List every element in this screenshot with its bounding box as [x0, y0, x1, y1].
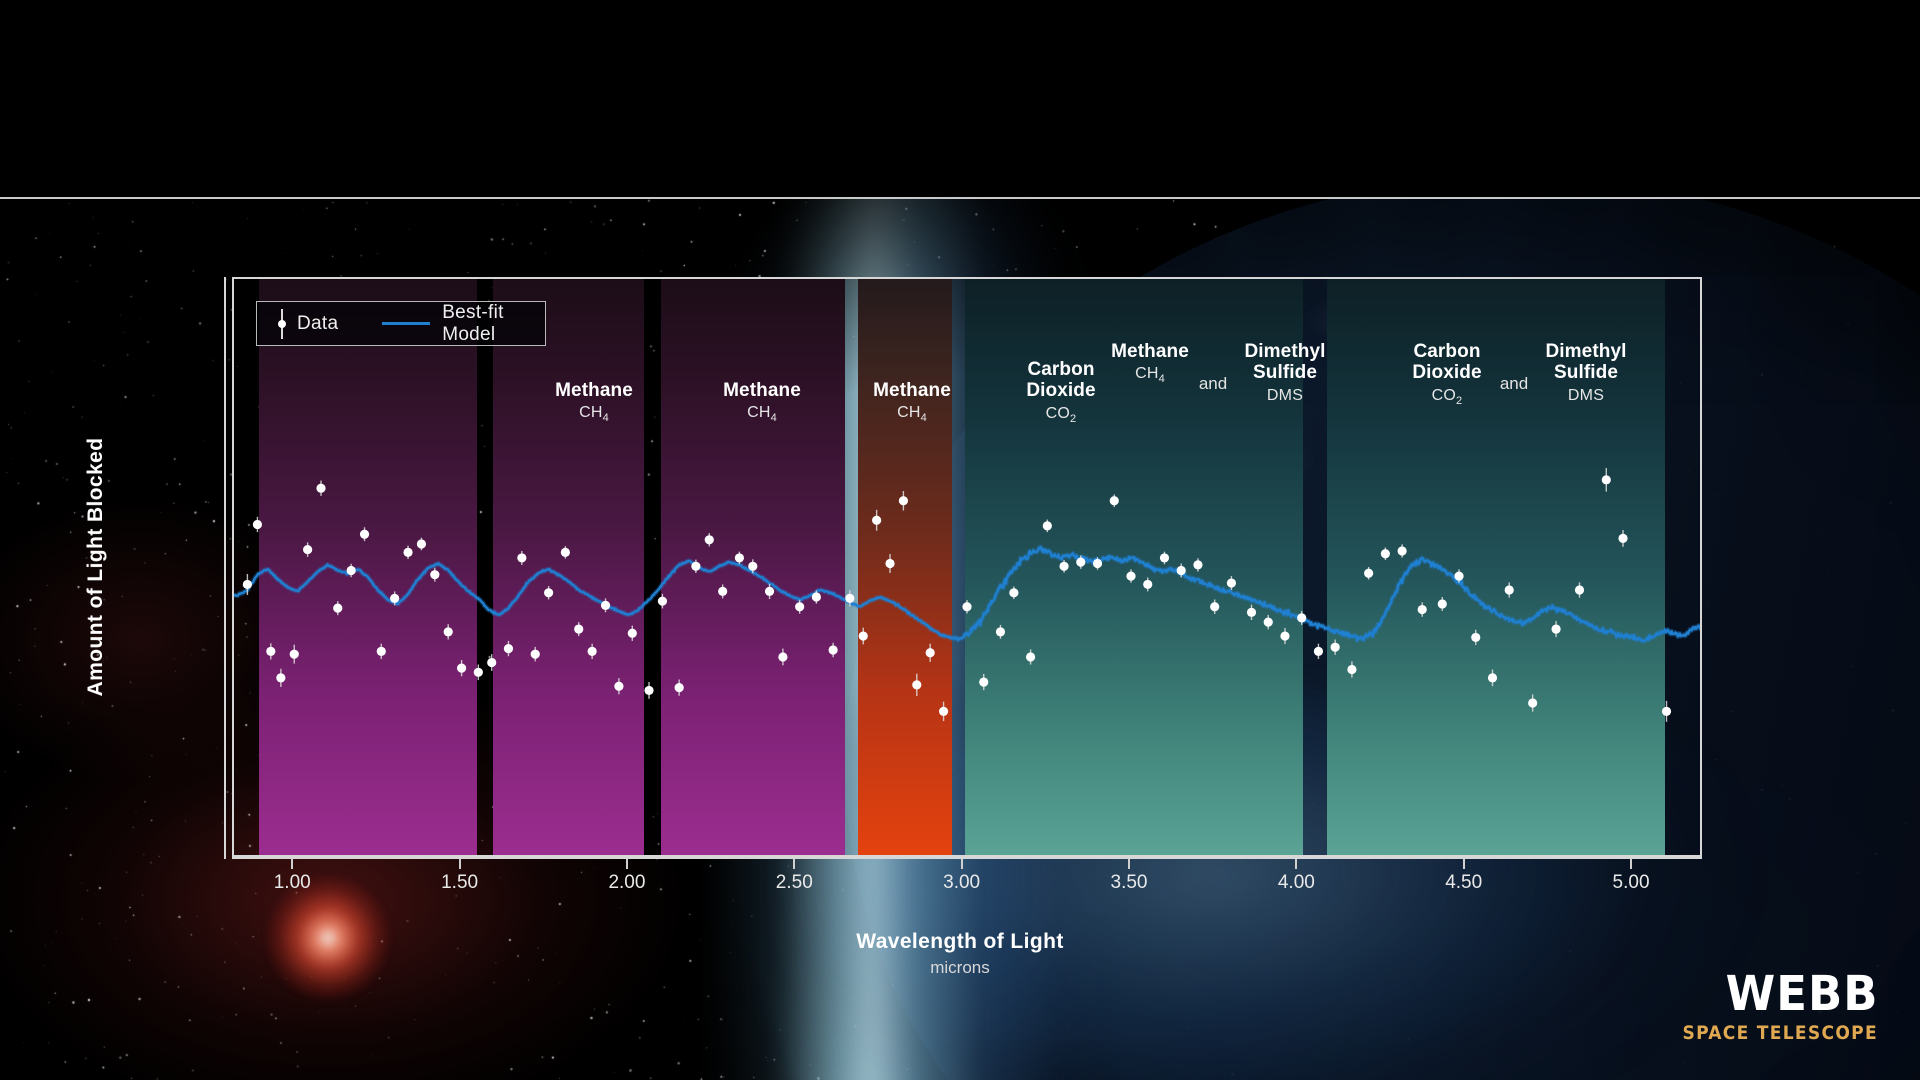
data-point [899, 496, 908, 505]
data-point [1026, 652, 1035, 661]
data-point [588, 647, 597, 656]
data-point [487, 658, 496, 667]
data-point [574, 624, 583, 633]
data-point [390, 594, 399, 603]
data-point [1110, 496, 1119, 505]
x-tick-mark [291, 859, 293, 869]
data-point [403, 548, 412, 557]
data-point [531, 650, 540, 659]
data-point [812, 592, 821, 601]
data-point [1126, 571, 1135, 580]
data-point [417, 539, 426, 548]
data-point [926, 648, 935, 657]
data-point-icon [277, 309, 286, 339]
data-point [1297, 613, 1306, 622]
data-point [872, 516, 881, 525]
data-point [1364, 569, 1373, 578]
data-point [1438, 599, 1447, 608]
logo-wordmark: WEBB [1675, 971, 1878, 1018]
data-points-group [243, 468, 1671, 722]
x-axis-title: Wavelength of Light [0, 930, 1920, 954]
x-tick-mark [1463, 859, 1465, 869]
data-point [290, 650, 299, 659]
data-point [939, 707, 948, 716]
data-point [1488, 673, 1497, 682]
x-tick-mark [1630, 859, 1632, 869]
x-tick-mark [1295, 859, 1297, 869]
data-point [795, 602, 804, 611]
legend-item-model: Best-fit Model [382, 302, 545, 346]
data-point [360, 530, 369, 539]
annotation-conjunction-and-2: and [1500, 374, 1528, 394]
x-tick-label: 2.00 [582, 872, 672, 894]
x-tick-label: 1.50 [415, 872, 505, 894]
legend-label-model: Best-fit Model [442, 302, 545, 346]
data-point [561, 548, 570, 557]
data-point [243, 580, 252, 589]
data-point [1662, 707, 1671, 716]
logo-tagline: SPACE TELESCOPE [1683, 1022, 1879, 1044]
x-tick-mark [793, 859, 795, 869]
model-curve-glow [234, 547, 1700, 641]
data-point [266, 647, 275, 656]
data-point [1210, 602, 1219, 611]
data-point [444, 627, 453, 636]
legend-item-data: Data [277, 309, 338, 339]
data-point [912, 680, 921, 689]
x-tick-mark [1128, 859, 1130, 869]
data-point [1505, 585, 1514, 594]
data-point [1264, 617, 1273, 626]
data-point [996, 627, 1005, 636]
data-point [1227, 578, 1236, 587]
header-divider [0, 197, 1920, 199]
data-point [1009, 588, 1018, 597]
x-tick-label: 3.50 [1084, 872, 1174, 894]
data-point [962, 602, 971, 611]
data-point [1575, 585, 1584, 594]
data-point [303, 545, 312, 554]
data-point [316, 484, 325, 493]
data-point [748, 562, 757, 571]
data-point [1280, 631, 1289, 640]
data-point [1602, 475, 1611, 484]
data-point [859, 631, 868, 640]
x-axis-units: microns [0, 958, 1920, 978]
chart-legend: Data Best-fit Model [256, 301, 546, 346]
data-point [1528, 698, 1537, 707]
data-point [1177, 566, 1186, 575]
x-tick-label: 3.00 [917, 872, 1007, 894]
model-line-icon [382, 322, 430, 325]
data-point [1143, 580, 1152, 589]
data-point [1347, 665, 1356, 674]
data-point [377, 647, 386, 656]
data-point [765, 587, 774, 596]
data-point [1247, 608, 1256, 617]
webb-logo: WEBB SPACE TELESCOPE [1683, 971, 1879, 1044]
header-bar [0, 0, 1920, 198]
data-point [1193, 560, 1202, 569]
data-point [1059, 562, 1068, 571]
data-point [333, 604, 342, 613]
data-point [544, 588, 553, 597]
data-point [1618, 534, 1627, 543]
data-point [1043, 521, 1052, 530]
data-point [614, 682, 623, 691]
data-point [1381, 549, 1390, 558]
data-point [829, 645, 838, 654]
annotation-conjunction-and-1: and [1199, 374, 1227, 394]
data-point [705, 535, 714, 544]
data-point [778, 652, 787, 661]
data-point [601, 601, 610, 610]
model-curve [234, 547, 1700, 641]
y-axis-title: Amount of Light Blocked [84, 438, 108, 697]
data-point [658, 597, 667, 606]
data-point [1398, 546, 1407, 555]
data-point [1076, 558, 1085, 567]
data-point [675, 683, 684, 692]
data-point [276, 673, 285, 682]
x-tick-mark [459, 859, 461, 869]
data-point [691, 562, 700, 571]
data-point [718, 587, 727, 596]
x-axis-line [232, 857, 1702, 859]
data-point [457, 664, 466, 673]
data-point [1331, 643, 1340, 652]
data-point [735, 553, 744, 562]
data-point [845, 594, 854, 603]
data-point [253, 520, 262, 529]
data-point [644, 686, 653, 695]
x-tick-mark [626, 859, 628, 869]
data-point [347, 566, 356, 575]
x-tick-label: 4.50 [1419, 872, 1509, 894]
data-point [1418, 605, 1427, 614]
data-point [474, 668, 483, 677]
y-axis-line [224, 277, 226, 859]
x-tick-label: 2.50 [749, 872, 839, 894]
chart-plot-area: MethaneCH4MethaneCH4MethaneCH4CarbonDiox… [232, 277, 1702, 857]
data-point [517, 553, 526, 562]
data-point [504, 644, 513, 653]
x-tick-label: 4.00 [1251, 872, 1341, 894]
spectrum-svg [234, 279, 1700, 855]
data-point [979, 677, 988, 686]
infographic-stage: EXOPLANET K2-18 b ATMOSPHERE COMPOSITION… [0, 0, 1920, 1080]
data-point [1314, 647, 1323, 656]
x-tick-label: 5.00 [1586, 872, 1676, 894]
data-point [885, 559, 894, 568]
data-point [1454, 571, 1463, 580]
data-point [1471, 633, 1480, 642]
data-point [1093, 559, 1102, 568]
data-point [430, 570, 439, 579]
data-point [628, 629, 637, 638]
x-tick-label: 1.00 [247, 872, 337, 894]
x-tick-mark [961, 859, 963, 869]
data-point [1551, 624, 1560, 633]
legend-label-data: Data [297, 313, 338, 335]
data-point [1160, 553, 1169, 562]
